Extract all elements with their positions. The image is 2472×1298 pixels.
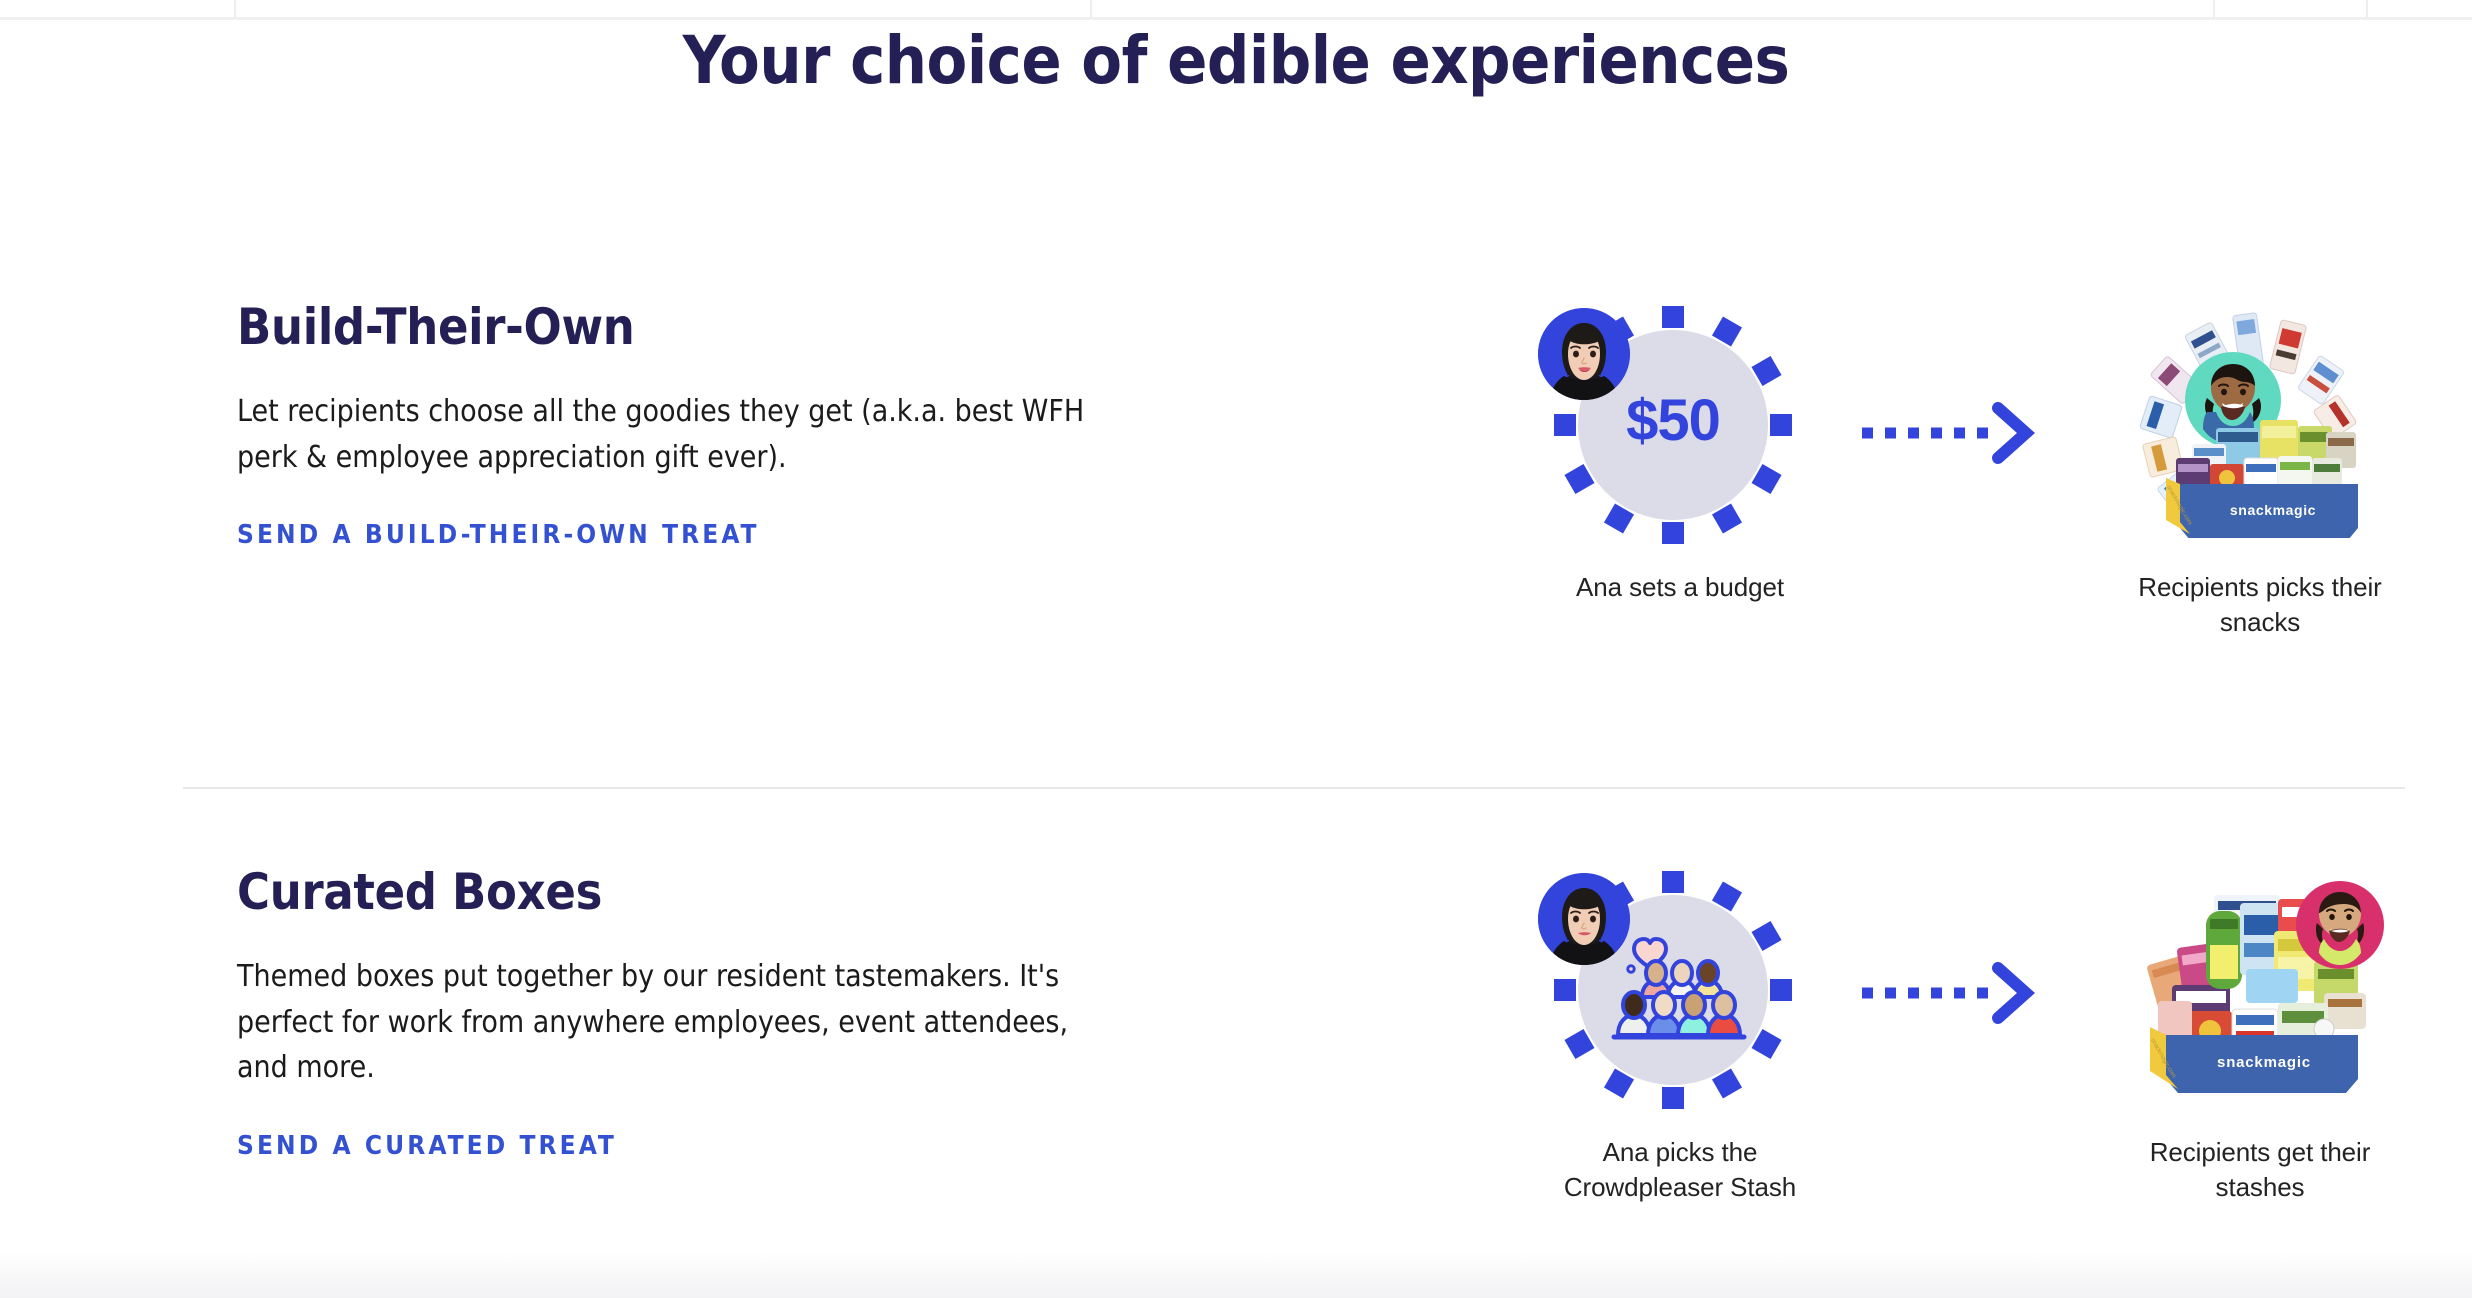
tick-mark-icon <box>1662 522 1684 544</box>
snack-box-illustration: snackmagic snackmagic.com <box>2128 873 2393 1103</box>
header-divider <box>234 0 236 17</box>
snack-box-filled-art: snackmagic snackmagic.com <box>2110 865 2410 1125</box>
tick-mark-icon <box>1554 979 1576 1001</box>
tick-mark-icon <box>1564 1029 1594 1059</box>
tick-mark-icon <box>1752 1029 1782 1059</box>
offering-body: Let recipients choose all the goodies th… <box>237 389 1087 480</box>
step-caption: Ana picks the Crowdpleaser Stash <box>1530 1135 1830 1205</box>
header-divider <box>1090 0 1092 17</box>
section-divider <box>183 787 2405 789</box>
group-of-people-icon <box>1600 925 1748 1057</box>
offering-row-build-their-own: Build-Their-Own Let recipients choose al… <box>0 300 2472 760</box>
tick-mark-icon <box>1752 356 1782 386</box>
send-build-their-own-treat-link[interactable]: SEND A BUILD-THEIR-OWN TREAT <box>237 520 760 550</box>
tick-mark-icon <box>1604 1069 1634 1099</box>
step-caption: Ana sets a budget <box>1530 570 1830 605</box>
offering-copy: Build-Their-Own Let recipients choose al… <box>237 300 1117 550</box>
page-root: Your choice of edible experiences Build-… <box>0 0 2472 1298</box>
page-title: Your choice of edible experiences <box>0 24 2472 98</box>
bottom-fade <box>0 1252 2472 1298</box>
header-bottom-rule <box>0 17 2472 20</box>
tick-mark-icon <box>1554 414 1576 436</box>
offering-steps: Ana picks the Crowdpleaser Stash <box>1470 865 2470 1285</box>
tick-mark-icon <box>1564 464 1594 494</box>
offering-copy: Curated Boxes Themed boxes put together … <box>237 865 1117 1161</box>
tick-mark-icon <box>1604 504 1634 534</box>
budget-amount-label: $50 <box>1578 387 1768 454</box>
tick-mark-icon <box>1662 306 1684 328</box>
budget-medallion-art: $50 <box>1530 300 1830 560</box>
tick-mark-icon <box>1712 1069 1742 1099</box>
step-ana-picks-crowdpleaser: Ana picks the Crowdpleaser Stash <box>1530 865 1830 1205</box>
crowd-medallion-art <box>1530 865 1830 1125</box>
avatar <box>1538 308 1630 400</box>
snack-box-fan-art: snackmagic snackmagic.com <box>2110 300 2410 560</box>
offering-row-curated-boxes: Curated Boxes Themed boxes put together … <box>0 865 2472 1285</box>
step-caption: Recipients picks their snacks <box>2110 570 2410 640</box>
arrow-right-icon <box>1858 402 2048 464</box>
svg-text:snackmagic: snackmagic <box>2230 502 2316 518</box>
arrow-right-icon <box>1858 962 2048 1024</box>
tick-mark-icon <box>1662 1087 1684 1109</box>
header-remnant-strip <box>0 0 2472 18</box>
header-divider <box>2213 0 2215 17</box>
svg-text:snackmagic: snackmagic <box>2217 1054 2311 1071</box>
tick-mark-icon <box>1712 316 1742 346</box>
snack-box-illustration: snackmagic snackmagic.com <box>2128 308 2393 538</box>
send-curated-treat-link[interactable]: SEND A CURATED TREAT <box>237 1131 617 1161</box>
tick-mark-icon <box>1662 871 1684 893</box>
offering-title: Curated Boxes <box>237 865 1117 920</box>
avatar <box>1538 873 1630 965</box>
tick-mark-icon <box>1752 921 1782 951</box>
tick-mark-icon <box>1770 414 1792 436</box>
offering-body: Themed boxes put together by our residen… <box>237 954 1087 1091</box>
offering-title: Build-Their-Own <box>237 300 1117 355</box>
step-recipients-pick-snacks: snackmagic snackmagic.com Recipients pic… <box>2110 300 2410 640</box>
tick-mark-icon <box>1712 504 1742 534</box>
tick-mark-icon <box>1770 979 1792 1001</box>
step-caption: Recipients get their stashes <box>2110 1135 2410 1205</box>
step-ana-sets-budget: $50 <box>1530 300 1830 605</box>
header-divider <box>2366 0 2368 17</box>
offering-steps: $50 <box>1470 300 2470 760</box>
tick-mark-icon <box>1752 464 1782 494</box>
tick-mark-icon <box>1712 881 1742 911</box>
step-recipients-get-stashes: snackmagic snackmagic.com Recipients get… <box>2110 865 2410 1205</box>
